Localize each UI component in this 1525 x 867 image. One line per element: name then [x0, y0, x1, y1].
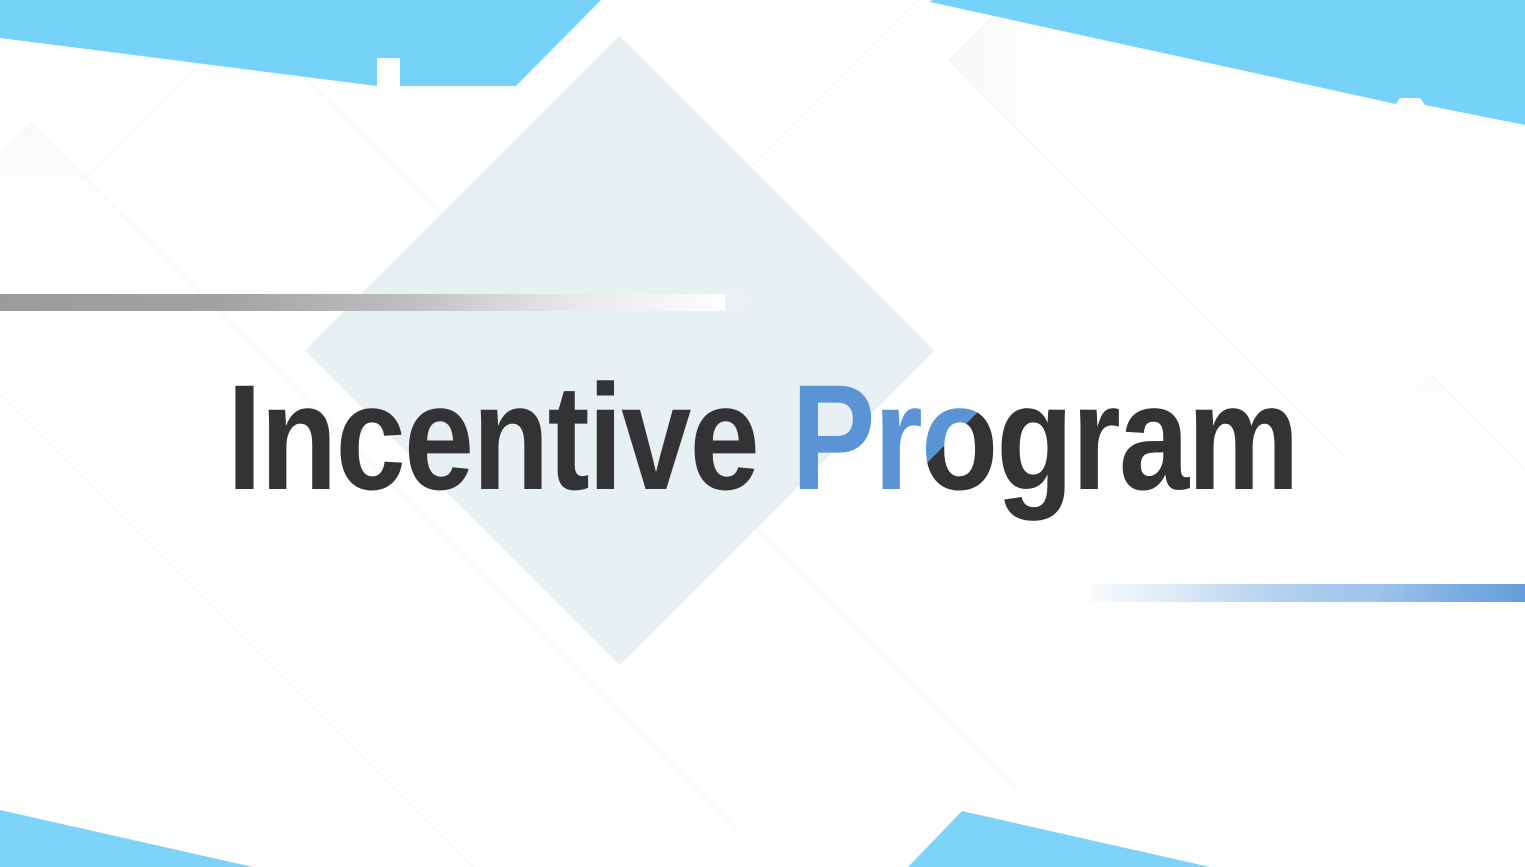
title-slide: Incentive Program Incentive Program	[0, 0, 1525, 867]
title-word-program: Program	[758, 353, 1298, 521]
title-container: Incentive Program	[0, 0, 1525, 867]
title-word-incentive: Incentive	[227, 353, 758, 521]
page-title: Incentive Program	[227, 362, 1298, 512]
